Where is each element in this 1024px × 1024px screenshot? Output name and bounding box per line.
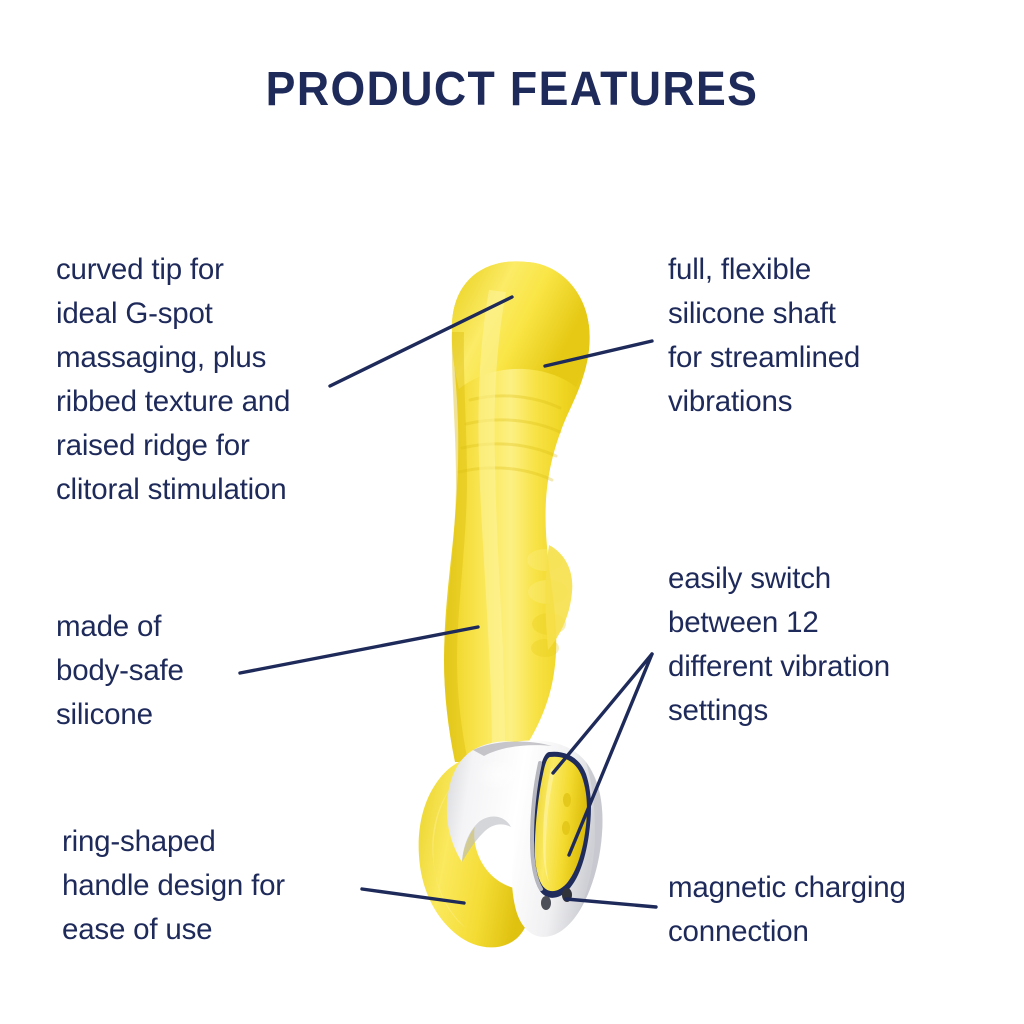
control-housing xyxy=(447,740,603,936)
callout-magnetic-charging: magnetic charging connection xyxy=(668,866,988,954)
callout-flexible-shaft: full, flexible silicone shaft for stream… xyxy=(668,248,968,424)
page-title: PRODUCT FEATURES xyxy=(36,62,988,117)
product-shaft xyxy=(444,261,590,762)
product-features-infographic: PRODUCT FEATURES xyxy=(0,0,1024,1024)
callout-vibration-settings: easily switch between 12 different vibra… xyxy=(668,557,978,733)
leader-line-magnetic-charging xyxy=(566,899,656,907)
leader-line-settings-a xyxy=(553,654,652,773)
leader-line-flexible-shaft xyxy=(545,341,652,366)
leader-line-settings-b xyxy=(569,654,652,855)
callout-curved-tip: curved tip for ideal G-spot massaging, p… xyxy=(56,248,386,512)
callout-body-safe-silicone: made of body-safe silicone xyxy=(56,605,326,737)
button-panel xyxy=(532,752,591,898)
ring-handle xyxy=(419,754,536,947)
charging-contacts xyxy=(541,888,572,910)
callout-ring-handle: ring-shaped handle design for ease of us… xyxy=(62,820,382,952)
